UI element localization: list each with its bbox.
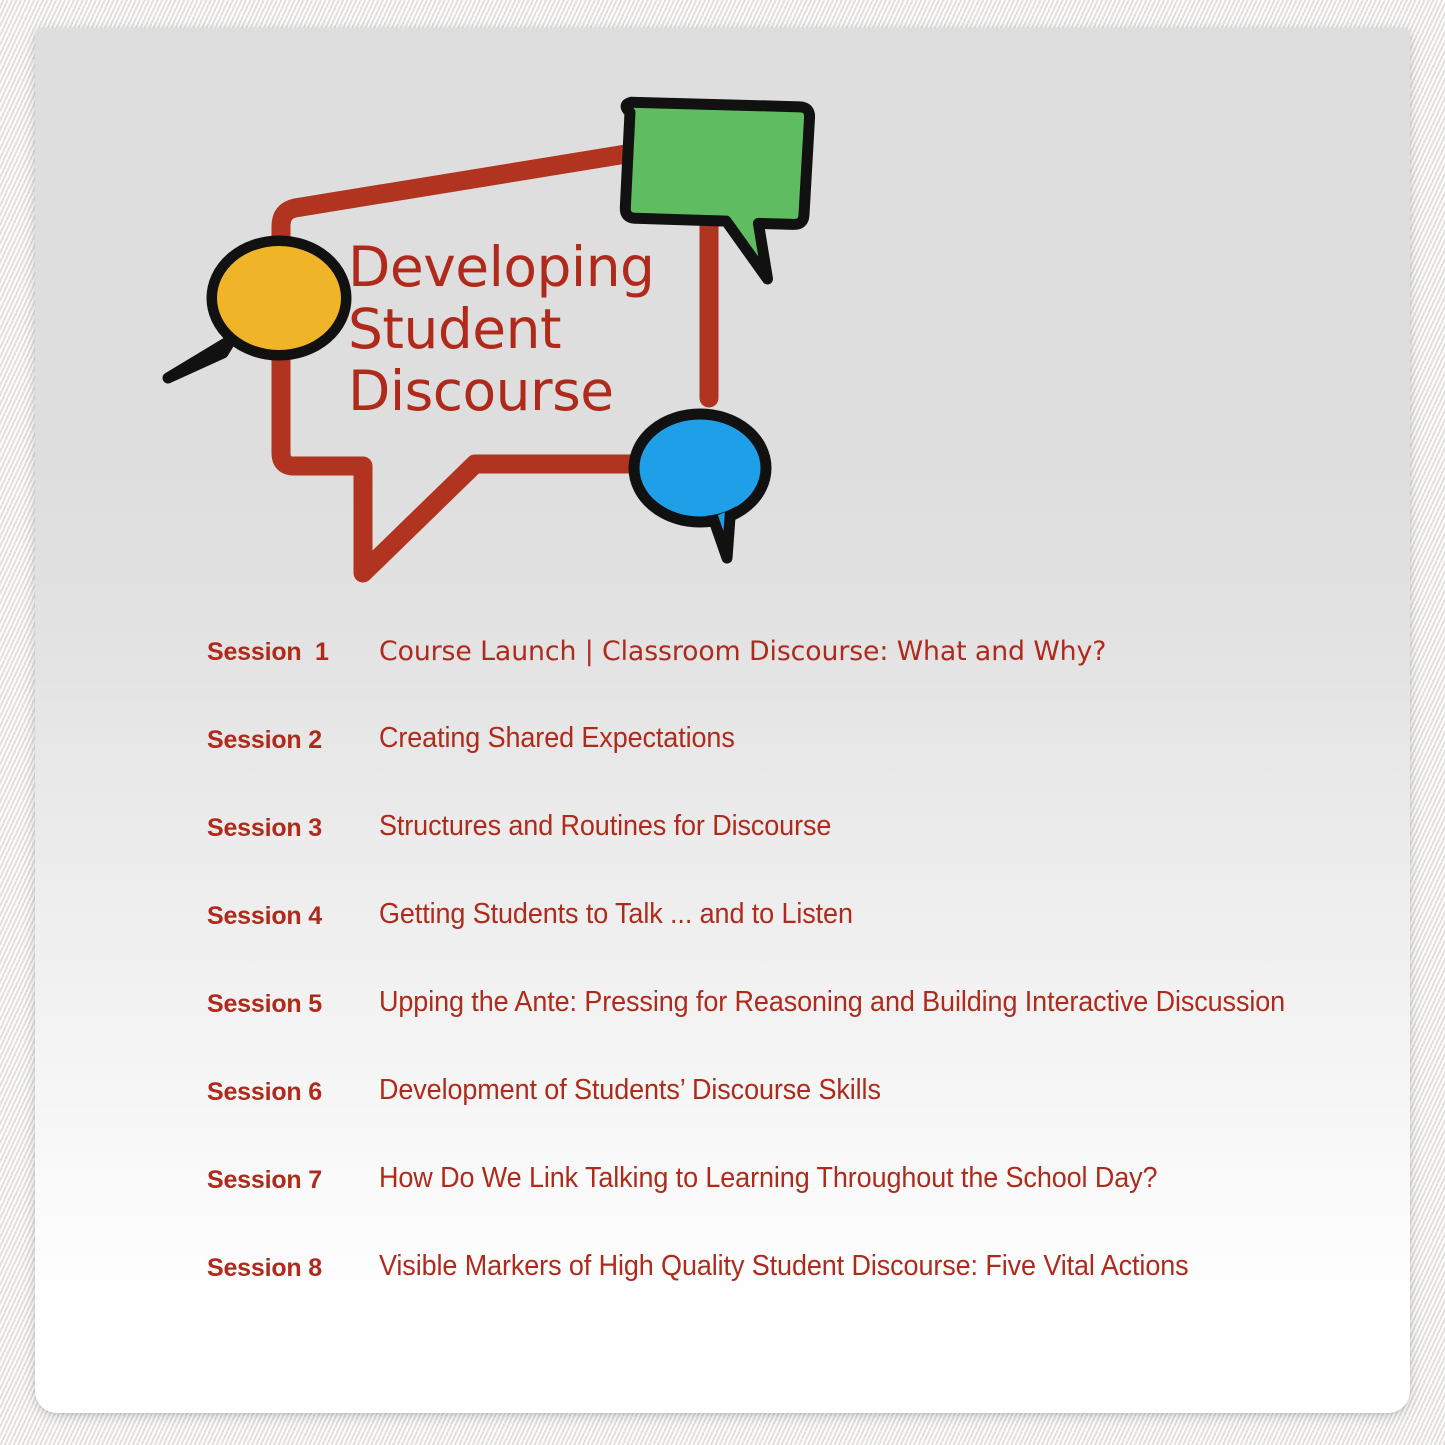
session-title: How Do We Link Talking to Learning Throu… bbox=[379, 1162, 1157, 1195]
session-title: Upping the Ante: Pressing for Reasoning … bbox=[379, 986, 1285, 1019]
session-title: Development of Students’ Discourse Skill… bbox=[379, 1074, 881, 1107]
session-label: Session 2 bbox=[207, 726, 377, 755]
session-row[interactable]: Session 4 Getting Students to Talk ... a… bbox=[207, 902, 1387, 990]
session-row[interactable]: Session 8 Visible Markers of High Qualit… bbox=[207, 1254, 1387, 1342]
session-row[interactable]: Session 1 Course Launch | Classroom Disc… bbox=[207, 638, 1387, 726]
session-row[interactable]: Session 7 How Do We Link Talking to Lear… bbox=[207, 1166, 1387, 1254]
session-label: Session 6 bbox=[207, 1078, 377, 1107]
blue-speech-bubble bbox=[634, 414, 766, 558]
session-row[interactable]: Session 6 Development of Students’ Disco… bbox=[207, 1078, 1387, 1166]
session-row[interactable]: Session 3 Structures and Routines for Di… bbox=[207, 814, 1387, 902]
session-title: Getting Students to Talk ... and to List… bbox=[379, 898, 853, 931]
session-label: Session 3 bbox=[207, 814, 377, 843]
session-row[interactable]: Session 5 Upping the Ante: Pressing for … bbox=[207, 990, 1387, 1078]
logo-title: Developing Student Discourse bbox=[348, 236, 654, 422]
session-label: Session 8 bbox=[207, 1254, 377, 1283]
session-label: Session 1 bbox=[207, 638, 377, 667]
session-row[interactable]: Session 2 Creating Shared Expectations bbox=[207, 726, 1387, 814]
session-title: Visible Markers of High Quality Student … bbox=[379, 1250, 1189, 1283]
course-logo: Developing Student Discourse bbox=[135, 68, 855, 588]
session-title: Structures and Routines for Discourse bbox=[379, 810, 831, 843]
yellow-speech-bubble bbox=[168, 241, 346, 378]
session-list: Session 1 Course Launch | Classroom Disc… bbox=[207, 638, 1387, 1342]
session-title: Course Launch | Classroom Discourse: Wha… bbox=[379, 636, 1106, 667]
session-label: Session 5 bbox=[207, 990, 377, 1019]
slide-card: Developing Student Discourse Session 1 C… bbox=[35, 28, 1410, 1413]
session-title: Creating Shared Expectations bbox=[379, 722, 735, 755]
session-label: Session 4 bbox=[207, 902, 377, 931]
session-label: Session 7 bbox=[207, 1166, 377, 1195]
